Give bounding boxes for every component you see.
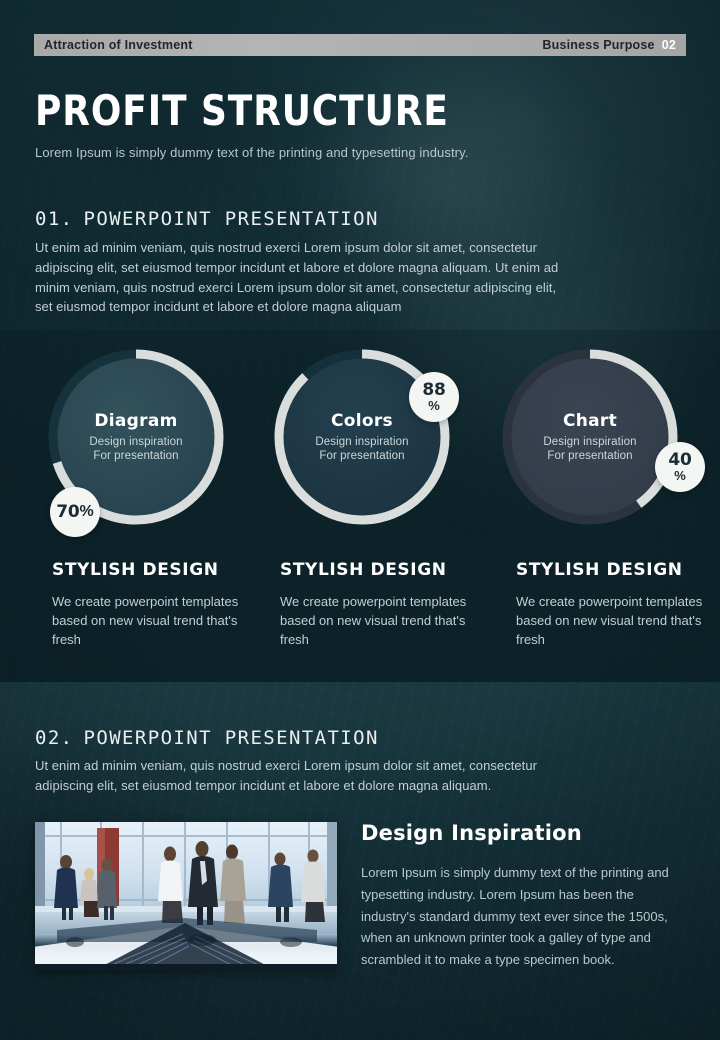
donut-value-badge: 88 %	[409, 372, 459, 422]
feature-column: STYLISH DESIGN We create powerpoint temp…	[516, 560, 720, 650]
feature-column: STYLISH DESIGN We create powerpoint temp…	[52, 560, 262, 650]
feature-title: STYLISH DESIGN	[280, 560, 490, 580]
business-meeting-photo	[35, 822, 337, 970]
section-2-number: 02.	[35, 727, 74, 749]
donut-ring	[500, 347, 680, 527]
top-bar-page-number: 02	[662, 38, 676, 52]
design-inspiration-title: Design Inspiration	[361, 821, 582, 845]
top-bar-right-group: Business Purpose 02	[542, 38, 676, 52]
donut-value-badge: 70 %	[50, 487, 100, 537]
top-bar-right-label: Business Purpose	[542, 38, 654, 52]
donut-value: 70	[56, 504, 79, 521]
section-1-number: 01.	[35, 208, 74, 230]
feature-body: We create powerpoint templates based on …	[516, 592, 720, 650]
top-bar-left-label: Attraction of Investment	[44, 38, 193, 52]
donut-value: 40	[668, 452, 691, 469]
page-subtitle: Lorem Ipsum is simply dummy text of the …	[35, 145, 468, 160]
donut-chart-colors[interactable]: Colors Design inspiration For presentati…	[272, 347, 452, 527]
donut-value: 88	[422, 382, 445, 399]
donut-chart-diagram[interactable]: Diagram Design inspiration For presentat…	[46, 347, 226, 527]
top-bar: Attraction of Investment Business Purpos…	[34, 34, 686, 56]
section-1-body: Ut enim ad minim veniam, quis nostrud ex…	[35, 238, 575, 317]
donut-percent-symbol: %	[674, 469, 686, 483]
donut-percent-symbol: %	[80, 504, 94, 521]
section-1-heading-text: POWERPOINT PRESENTATION	[84, 208, 379, 230]
feature-body: We create powerpoint templates based on …	[52, 592, 262, 650]
section-2-heading: 02.POWERPOINT PRESENTATION	[35, 727, 379, 749]
donut-chart-chart[interactable]: Chart Design inspiration For presentatio…	[500, 347, 680, 527]
feature-title: STYLISH DESIGN	[52, 560, 262, 580]
section-2-body: Ut enim ad minim veniam, quis nostrud ex…	[35, 756, 580, 796]
donut-percent-symbol: %	[428, 399, 440, 413]
section-1-heading: 01.POWERPOINT PRESENTATION	[35, 208, 379, 230]
section-2-heading-text: POWERPOINT PRESENTATION	[84, 727, 379, 749]
donut-value-badge: 40 %	[655, 442, 705, 492]
donut-chart-row: Diagram Design inspiration For presentat…	[0, 345, 720, 530]
page-title: PROFIT STRUCTURE	[35, 90, 449, 132]
slide: Attraction of Investment Business Purpos…	[0, 0, 720, 1040]
design-inspiration-body: Lorem Ipsum is simply dummy text of the …	[361, 862, 683, 971]
feature-body: We create powerpoint templates based on …	[280, 592, 490, 650]
feature-title: STYLISH DESIGN	[516, 560, 720, 580]
feature-column: STYLISH DESIGN We create powerpoint temp…	[280, 560, 490, 650]
